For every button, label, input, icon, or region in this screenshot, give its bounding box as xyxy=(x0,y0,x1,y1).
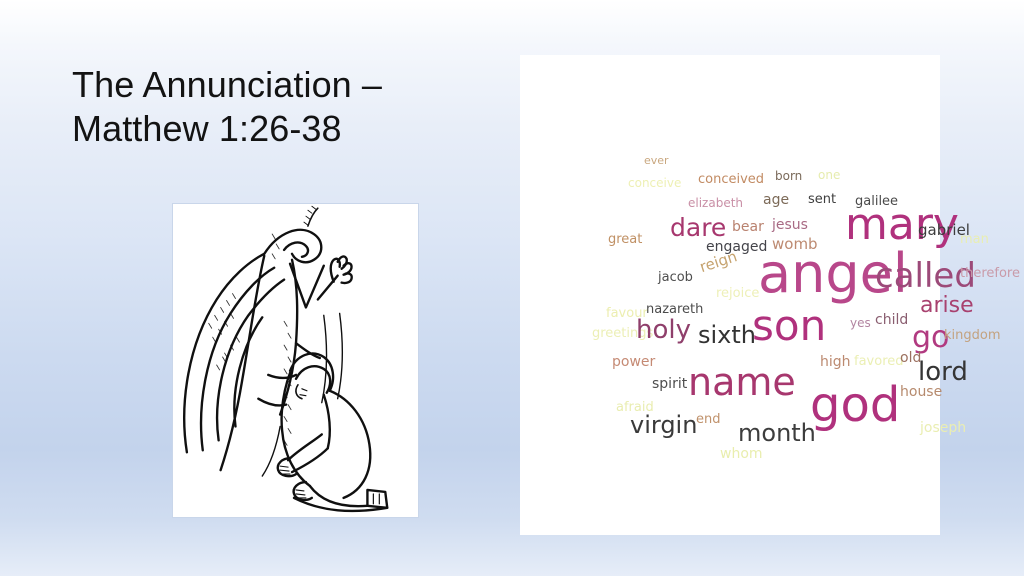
wordcloud-word: child xyxy=(875,313,908,327)
wordcloud-word: end xyxy=(696,413,721,426)
wordcloud-word: house xyxy=(900,385,942,399)
wordcloud-word: whom xyxy=(720,447,763,461)
wordcloud-word: elizabeth xyxy=(688,197,743,209)
wordcloud-word: great xyxy=(608,233,642,246)
wordcloud-word: ever xyxy=(644,155,669,166)
wordcloud-panel[interactable]: everconceiveconceivedbornoneelizabethage… xyxy=(520,55,940,535)
wordcloud-word: yes xyxy=(850,317,871,329)
wordcloud: everconceiveconceivedbornoneelizabethage… xyxy=(520,55,940,535)
wordcloud-word: dare xyxy=(670,215,726,240)
title-line-1: The Annunciation – xyxy=(72,63,502,107)
annunciation-line-art-image[interactable] xyxy=(172,203,419,518)
wordcloud-word: lord xyxy=(918,359,968,385)
wordcloud-word: born xyxy=(775,170,802,182)
slide-canvas: The Annunciation – Matthew 1:26-38 xyxy=(0,0,1024,576)
wordcloud-word: month xyxy=(738,421,816,445)
wordcloud-word: joseph xyxy=(920,421,966,435)
wordcloud-word: virgin xyxy=(630,413,697,437)
wordcloud-word: god xyxy=(810,381,900,429)
wordcloud-word: age xyxy=(763,193,789,207)
wordcloud-word: power xyxy=(612,355,655,369)
wordcloud-word: spirit xyxy=(652,377,687,391)
wordcloud-word: holy xyxy=(636,317,691,343)
wordcloud-word: name xyxy=(688,363,796,401)
wordcloud-word: kingdom xyxy=(944,329,1001,342)
wordcloud-word: bear xyxy=(732,220,764,234)
wordcloud-word: jesus xyxy=(772,218,808,232)
wordcloud-word: reign xyxy=(698,249,739,275)
wordcloud-word: high xyxy=(820,355,851,369)
annunciation-drawing xyxy=(173,204,418,517)
wordcloud-word: conceive xyxy=(628,177,681,189)
title-line-2: Matthew 1:26-38 xyxy=(72,107,502,151)
wordcloud-word: sixth xyxy=(698,323,756,347)
page-title[interactable]: The Annunciation – Matthew 1:26-38 xyxy=(72,63,502,151)
wordcloud-word: son xyxy=(752,305,826,347)
wordcloud-word: man xyxy=(960,233,989,246)
wordcloud-word: arise xyxy=(920,295,974,317)
wordcloud-word: therefore xyxy=(960,267,1020,280)
wordcloud-word: rejoice xyxy=(716,287,759,300)
wordcloud-word: jacob xyxy=(658,271,693,284)
wordcloud-word: favored xyxy=(854,355,904,368)
wordcloud-word: conceived xyxy=(698,173,764,186)
wordcloud-word: sent xyxy=(808,193,836,206)
wordcloud-word: one xyxy=(818,169,840,181)
